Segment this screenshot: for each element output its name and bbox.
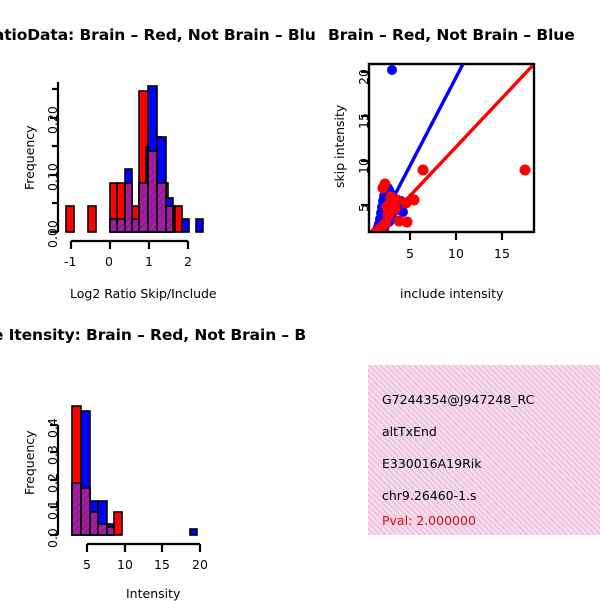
scatter-ylabel: skip intensity bbox=[332, 105, 347, 188]
scatter-xlabel: include intensity bbox=[400, 286, 503, 301]
scatter-xtick-2: 15 bbox=[494, 246, 510, 261]
info-line-gene-symbol: E330016A19Rik bbox=[382, 456, 481, 471]
info-line-probe-id: G7244354@J947248_RC bbox=[382, 392, 534, 407]
hist-intensity-ylabel: Frequency bbox=[22, 430, 37, 495]
hist-intensity-ytick-4: 0.4 bbox=[45, 418, 60, 438]
scatter-data-area bbox=[370, 62, 537, 239]
hist-ratio-xtick-3: 2 bbox=[184, 254, 192, 269]
hist-ratio-xtick-2: 1 bbox=[145, 254, 153, 269]
info-panel-lines: G7244354@J947248_RC altTxEnd E330016A19R… bbox=[368, 365, 600, 535]
panel-histogram-ratio: RatioData: Brain – Red, Not Brain – Blu bbox=[0, 0, 300, 300]
hist-intensity-x-axis bbox=[87, 544, 200, 552]
info-panel: G7244354@J947248_RC altTxEnd E330016A19R… bbox=[368, 365, 600, 535]
hist-intensity-xtick-1: 10 bbox=[117, 557, 133, 572]
info-line-pval: Pval: 2.000000 bbox=[382, 513, 476, 528]
hist-intensity-ytick-2: 0.2 bbox=[45, 473, 60, 493]
scatter-ytick-1: 10 bbox=[356, 158, 371, 174]
info-line-locus: chr9.26460-1.s bbox=[382, 488, 477, 503]
scatter-xtick-1: 10 bbox=[448, 246, 464, 261]
scatter-red-points bbox=[370, 165, 531, 239]
hist-intensity-xtick-2: 15 bbox=[154, 557, 170, 572]
hist-ratio-xtick-0: -1 bbox=[64, 254, 76, 269]
scatter-y-axis-ticks bbox=[361, 72, 369, 205]
hist-intensity-xtick-3: 20 bbox=[192, 557, 208, 572]
info-line-event-type: altTxEnd bbox=[382, 424, 437, 439]
scatter-ytick-2: 15 bbox=[356, 113, 371, 129]
scatter-xtick-0: 5 bbox=[406, 246, 414, 261]
hist-intensity-ytick-0: 0.0 bbox=[45, 528, 60, 548]
hist-intensity-ytick-1: 0.1 bbox=[45, 500, 60, 520]
hist-ratio-ytick-0: 0.00 bbox=[45, 220, 60, 248]
scatter-ytick-0: 5 bbox=[356, 204, 371, 212]
hist-ratio-ytick-1: 0.10 bbox=[45, 163, 60, 191]
hist-ratio-y-axis bbox=[50, 82, 58, 232]
hist-intensity-ytick-3: 0.3 bbox=[45, 445, 60, 465]
hist-ratio-xlabel: Log2 Ratio Skip/Include bbox=[70, 286, 217, 301]
hist-ratio-ytick-2: 0.20 bbox=[45, 106, 60, 134]
panel-histogram-intensity: ne Itensity: Brain – Red, Not Brain – B bbox=[0, 300, 300, 600]
hist-ratio-ylabel: Frequency bbox=[22, 125, 37, 190]
hist-ratio-xtick-1: 0 bbox=[105, 254, 113, 269]
hist-intensity-xtick-0: 5 bbox=[83, 557, 91, 572]
hist-intensity-xlabel: Intensity bbox=[126, 586, 180, 601]
hist-ratio-x-axis bbox=[71, 241, 188, 249]
panel-scatter: Brain – Red, Not Brain – Blue bbox=[300, 0, 600, 300]
scatter-ytick-3: 20 bbox=[356, 69, 371, 85]
